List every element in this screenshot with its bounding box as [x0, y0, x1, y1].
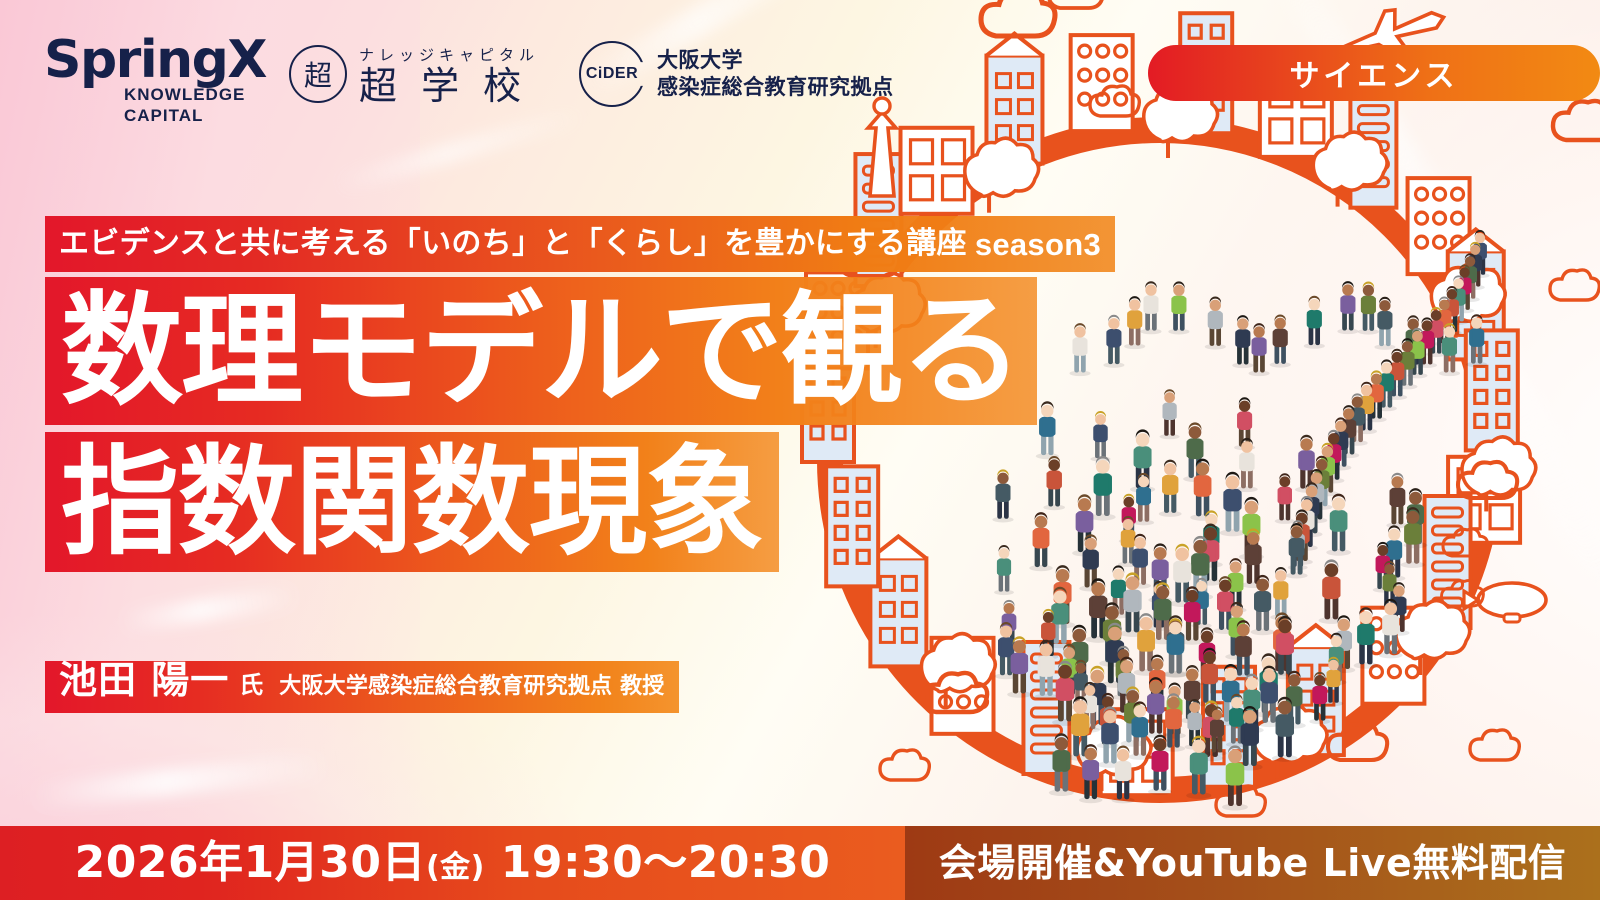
series-subtitle-text: エビデンスと共に考える「いのち」と「くらし」を豊かにする講座: [59, 229, 967, 259]
series-season-label: season3: [967, 229, 1101, 260]
chougakko-logo[interactable]: 超 ナレッジキャピタル 超 学 校: [289, 44, 539, 105]
footer-bar: 2026年1月30日(金) 19:30〜20:30 会場開催&YouTube L…: [0, 826, 1600, 900]
event-delivery-mode: 会場開催&YouTube Live無料配信: [939, 844, 1567, 882]
speaker-affiliation: 大阪大学感染症総合教育研究拠点 教授: [263, 668, 664, 700]
springx-sub-line1: KNOWLEDGE: [124, 84, 245, 105]
title-bar-line1: 数理モデルで観る: [45, 277, 1037, 425]
springx-sub-line2: CAPITAL: [124, 105, 245, 126]
category-badge: サイエンス: [1148, 45, 1600, 101]
cider-logo[interactable]: CiDER 大阪大学 感染症総合教育研究拠点: [579, 41, 894, 107]
speaker-bar: 池田 陽一 氏 大阪大学感染症総合教育研究拠点 教授: [45, 661, 679, 713]
cider-org-line2: 感染症総合教育研究拠点: [657, 76, 894, 99]
springx-sublabel: KNOWLEDGE CAPITAL: [124, 84, 245, 127]
springx-logo[interactable]: SpringX KNOWLEDGE CAPITAL: [44, 34, 249, 114]
chougakko-kana: ナレッジキャピタル: [359, 44, 539, 65]
footer-mode-segment: 会場開催&YouTube Live無料配信: [905, 826, 1600, 900]
cider-org-line1: 大阪大学: [657, 49, 894, 72]
event-date-time: 2026年1月30日(金) 19:30〜20:30: [75, 841, 831, 885]
cider-wordmark: CiDER: [583, 65, 641, 83]
speaker-name-suffix: 氏: [229, 665, 263, 700]
poster-canvas: SpringX KNOWLEDGE CAPITAL 超 ナレッジキャピタル 超 …: [0, 0, 1600, 900]
cider-mark-icon: CiDER: [579, 41, 645, 107]
event-time: 19:30〜20:30: [501, 837, 831, 888]
footer-datetime-segment: 2026年1月30日(金) 19:30〜20:30: [0, 826, 905, 900]
cider-text: 大阪大学 感染症総合教育研究拠点: [657, 49, 894, 98]
logo-row: SpringX KNOWLEDGE CAPITAL 超 ナレッジキャピタル 超 …: [44, 34, 894, 114]
series-subtitle-bar: エビデンスと共に考える「いのち」と「くらし」を豊かにする講座 season3: [45, 216, 1115, 272]
chougakko-name: 超 学 校: [359, 67, 539, 105]
speaker-name: 池田 陽一: [59, 661, 229, 699]
chougakko-text: ナレッジキャピタル 超 学 校: [359, 44, 539, 105]
page-title-line1: 数理モデルで観る: [61, 290, 1021, 412]
chou-mark-icon: 超: [289, 45, 347, 103]
event-weekday: (金): [426, 850, 485, 885]
category-badge-label: サイエンス: [1289, 51, 1458, 95]
page-title-line2: 指数関数現象: [61, 443, 763, 561]
springx-wordmark: SpringX: [44, 34, 249, 86]
event-date: 2026年1月30日: [75, 837, 426, 888]
title-bar-line2: 指数関数現象: [45, 432, 779, 572]
